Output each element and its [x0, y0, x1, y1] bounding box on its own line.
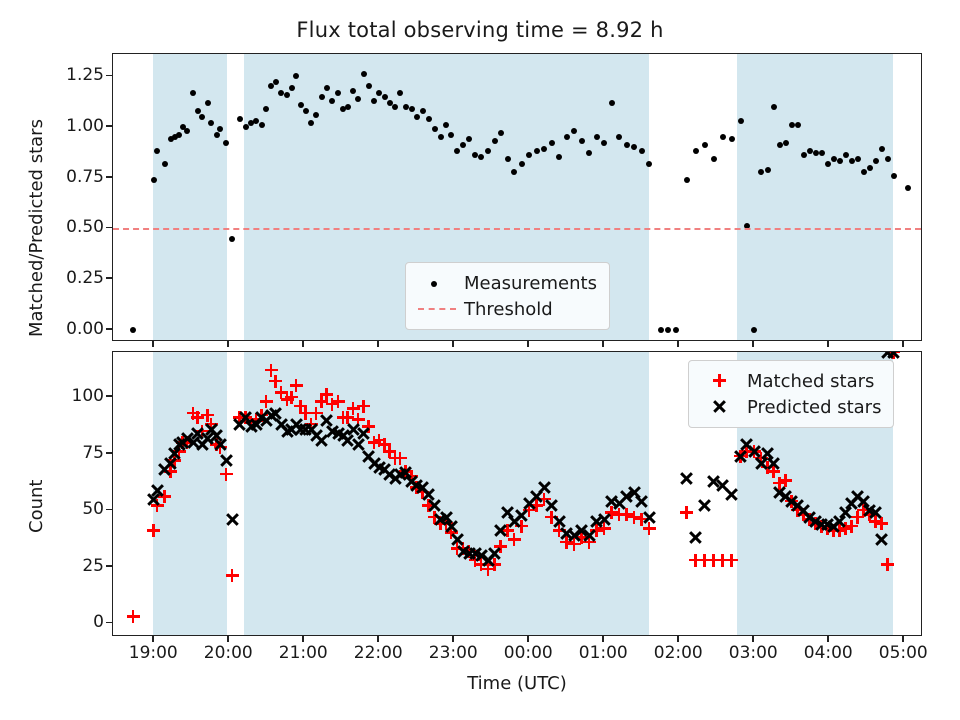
data-point [214, 132, 220, 138]
legend-item-predicted-stars: Predicted stars [699, 394, 881, 420]
data-point [556, 154, 562, 160]
axis-tick-mark [827, 341, 829, 347]
legend-top-panel: Measurements Threshold [405, 262, 610, 330]
axis-tick-mark [602, 341, 604, 347]
data-point [409, 106, 415, 112]
data-point [494, 524, 507, 537]
data-point [214, 438, 227, 451]
legend-item-measurements: Measurements [416, 270, 597, 296]
data-point [151, 177, 157, 183]
data-point [217, 126, 223, 132]
data-point [549, 140, 555, 146]
legend-bottom-panel: Matched stars Predicted stars [688, 360, 894, 428]
data-point [711, 156, 717, 162]
data-point [319, 94, 325, 100]
data-point [738, 118, 744, 124]
axis-tick-mark [902, 636, 904, 642]
dashed-line-icon [416, 299, 458, 319]
data-point [837, 158, 843, 164]
data-point [598, 513, 611, 526]
data-point [849, 158, 855, 164]
data-point [526, 152, 532, 158]
data-point [403, 104, 409, 110]
data-point [684, 177, 690, 183]
dot-marker-icon [416, 273, 458, 293]
data-point [875, 533, 888, 546]
data-point [885, 156, 891, 162]
axis-tick-label: 23:00 [429, 643, 478, 663]
data-point [777, 142, 783, 148]
data-point [795, 122, 801, 128]
data-point [127, 610, 140, 623]
axis-tick-mark [527, 341, 529, 347]
data-point [350, 88, 356, 94]
data-point [154, 148, 160, 154]
data-point [505, 156, 511, 162]
data-point [397, 90, 403, 96]
axis-tick-mark [106, 565, 112, 567]
data-point [229, 236, 235, 242]
data-point [534, 148, 540, 154]
axis-tick-label: 75 [82, 443, 104, 463]
data-point [335, 90, 341, 96]
data-point [273, 79, 279, 85]
data-point [443, 122, 449, 128]
data-point [313, 112, 319, 118]
data-point [448, 132, 454, 138]
data-point [392, 104, 398, 110]
data-point [508, 533, 521, 546]
data-point [643, 511, 656, 524]
axis-tick-mark [902, 341, 904, 347]
data-point [226, 513, 239, 526]
data-point [289, 85, 295, 91]
data-point [220, 468, 233, 481]
axis-tick-mark [106, 277, 112, 279]
figure-canvas: Flux total observing time = 8.92 h 0.000… [0, 0, 960, 720]
data-point [488, 547, 501, 560]
data-point [355, 96, 361, 102]
data-point [329, 98, 335, 104]
axis-tick-label: 0.75 [66, 167, 104, 187]
data-point [438, 134, 444, 140]
axis-tick-mark [752, 636, 754, 642]
axis-tick-label: 01:00 [579, 643, 628, 663]
axis-tick-label: 02:00 [654, 643, 703, 663]
data-point [195, 108, 201, 114]
axis-tick-mark [677, 636, 679, 642]
axis-tick-mark [106, 328, 112, 330]
data-point [869, 506, 882, 519]
y-axis-label-top: Matched/Predicted stars [26, 119, 47, 337]
data-point [538, 481, 551, 494]
data-point [515, 508, 528, 521]
data-point [819, 150, 825, 156]
cross-marker-icon [699, 397, 741, 417]
axis-tick-mark [152, 341, 154, 347]
data-point [571, 128, 577, 134]
data-point [583, 529, 596, 542]
data-point [205, 100, 211, 106]
data-point [454, 148, 460, 154]
axis-tick-mark [527, 636, 529, 642]
data-point [519, 161, 525, 167]
data-point [693, 148, 699, 154]
data-point [586, 150, 592, 156]
axis-tick-label: 03:00 [729, 643, 778, 663]
axis-tick-mark [452, 636, 454, 642]
data-point [771, 104, 777, 110]
data-point [357, 427, 370, 440]
legend-label: Threshold [464, 299, 553, 320]
data-point [729, 136, 735, 142]
data-point [635, 495, 648, 508]
data-point [190, 90, 196, 96]
data-point [371, 98, 377, 104]
data-point [445, 520, 458, 533]
data-point [284, 92, 290, 98]
data-point [223, 140, 229, 146]
axis-tick-label: 04:00 [804, 643, 853, 663]
data-point [492, 138, 498, 144]
data-point [734, 450, 747, 463]
data-point [259, 122, 265, 128]
data-point [511, 169, 517, 175]
data-point [891, 173, 897, 179]
axis-tick-label: 0.00 [66, 319, 104, 339]
data-point [881, 558, 894, 571]
legend-label: Matched stars [747, 371, 874, 392]
data-point [130, 327, 136, 333]
data-point [873, 158, 879, 164]
data-point [199, 114, 205, 120]
data-point [263, 106, 269, 112]
data-point [345, 104, 351, 110]
data-point [564, 134, 570, 140]
data-point [843, 152, 849, 158]
axis-tick-label: 21:00 [279, 643, 328, 663]
data-point [783, 140, 789, 146]
axis-tick-label: 1.25 [66, 65, 104, 85]
data-point [226, 569, 239, 582]
data-point [702, 142, 708, 148]
legend-item-matched-stars: Matched stars [699, 368, 881, 394]
data-point [807, 148, 813, 154]
axis-tick-mark [452, 341, 454, 347]
data-point [875, 517, 888, 530]
data-point [237, 116, 243, 122]
data-point [426, 116, 432, 122]
data-point [867, 165, 873, 171]
axis-tick-label: 20:00 [204, 643, 253, 663]
data-point [324, 85, 330, 91]
data-point [208, 120, 214, 126]
data-point [394, 452, 407, 465]
data-point [887, 351, 900, 359]
data-point [357, 400, 370, 413]
data-point [751, 327, 757, 333]
data-point [151, 483, 164, 496]
data-point [631, 144, 637, 150]
data-point [825, 161, 831, 167]
axis-tick-mark [227, 636, 229, 642]
data-point [609, 100, 615, 106]
axis-tick-mark [227, 341, 229, 347]
axis-tick-label: 19:00 [129, 643, 178, 663]
data-point [861, 169, 867, 175]
data-point [639, 148, 645, 154]
data-point [765, 167, 771, 173]
axis-tick-label: 22:00 [354, 643, 403, 663]
data-point [905, 185, 911, 191]
axis-tick-label: 05:00 [879, 643, 928, 663]
data-point [680, 472, 693, 485]
data-point [673, 327, 679, 333]
axis-tick-label: 1.00 [66, 116, 104, 136]
legend-item-threshold: Threshold [416, 296, 597, 322]
page-title: Flux total observing time = 8.92 h [0, 18, 960, 42]
data-point [689, 531, 702, 544]
data-point [147, 524, 160, 537]
data-point [855, 156, 861, 162]
data-point [420, 108, 426, 114]
y-axis-label-bottom: Count [26, 480, 47, 533]
data-point [293, 73, 299, 79]
axis-tick-mark [377, 341, 379, 347]
axis-tick-mark [152, 636, 154, 642]
data-point [879, 146, 885, 152]
axis-tick-label: 0 [93, 612, 104, 632]
data-point [646, 161, 652, 167]
axis-tick-label: 25 [82, 556, 104, 576]
data-point [414, 114, 420, 120]
data-point [460, 142, 466, 148]
data-point [478, 154, 484, 160]
axis-tick-mark [106, 75, 112, 77]
data-point [366, 83, 372, 89]
legend-label: Measurements [464, 273, 597, 294]
data-point [184, 128, 190, 134]
data-point [725, 554, 738, 567]
data-point [303, 108, 309, 114]
axis-tick-mark [106, 452, 112, 454]
data-point [789, 122, 795, 128]
data-point [432, 126, 438, 132]
data-point [290, 379, 303, 392]
data-point [801, 152, 807, 158]
axis-tick-label: 0.25 [66, 268, 104, 288]
data-point [813, 150, 819, 156]
data-point [382, 94, 388, 100]
data-point [332, 395, 345, 408]
data-point [624, 142, 630, 148]
axis-tick-mark [106, 395, 112, 397]
data-point [601, 140, 607, 146]
axis-tick-mark [106, 509, 112, 511]
plus-marker-icon [699, 371, 741, 391]
axis-tick-mark [602, 636, 604, 642]
data-point [298, 102, 304, 108]
axis-tick-mark [752, 341, 754, 347]
legend-label: Predicted stars [747, 397, 881, 418]
data-point [758, 169, 764, 175]
data-point [579, 138, 585, 144]
data-point [594, 134, 600, 140]
data-point [176, 132, 182, 138]
data-point [498, 130, 504, 136]
data-point [541, 146, 547, 152]
data-point [698, 499, 711, 512]
axis-tick-mark [302, 636, 304, 642]
axis-tick-mark [827, 636, 829, 642]
axis-tick-mark [106, 622, 112, 624]
data-point [220, 454, 233, 467]
threshold-line [113, 228, 921, 230]
data-point [831, 156, 837, 162]
axis-tick-mark [106, 125, 112, 127]
data-point [665, 327, 671, 333]
axis-tick-mark [677, 341, 679, 347]
data-point [162, 161, 168, 167]
axis-tick-mark [106, 227, 112, 229]
data-point [658, 327, 664, 333]
x-tick-labels: 19:0020:0021:0022:0023:0000:0001:0002:00… [0, 643, 960, 667]
data-point [767, 456, 780, 469]
data-point [545, 499, 558, 512]
data-point [720, 134, 726, 140]
data-point [308, 120, 314, 126]
axis-tick-mark [377, 636, 379, 642]
axis-tick-label: 0.50 [66, 217, 104, 237]
axis-tick-label: 100 [72, 386, 104, 406]
axis-tick-label: 00:00 [504, 643, 553, 663]
data-point [725, 488, 738, 501]
x-axis-label: Time (UTC) [112, 673, 922, 694]
data-point [485, 148, 491, 154]
data-point [466, 136, 472, 142]
axis-tick-mark [106, 176, 112, 178]
axis-tick-mark [302, 341, 304, 347]
axis-tick-label: 50 [82, 499, 104, 519]
data-point [680, 506, 693, 519]
data-point [616, 134, 622, 140]
data-point [361, 71, 367, 77]
